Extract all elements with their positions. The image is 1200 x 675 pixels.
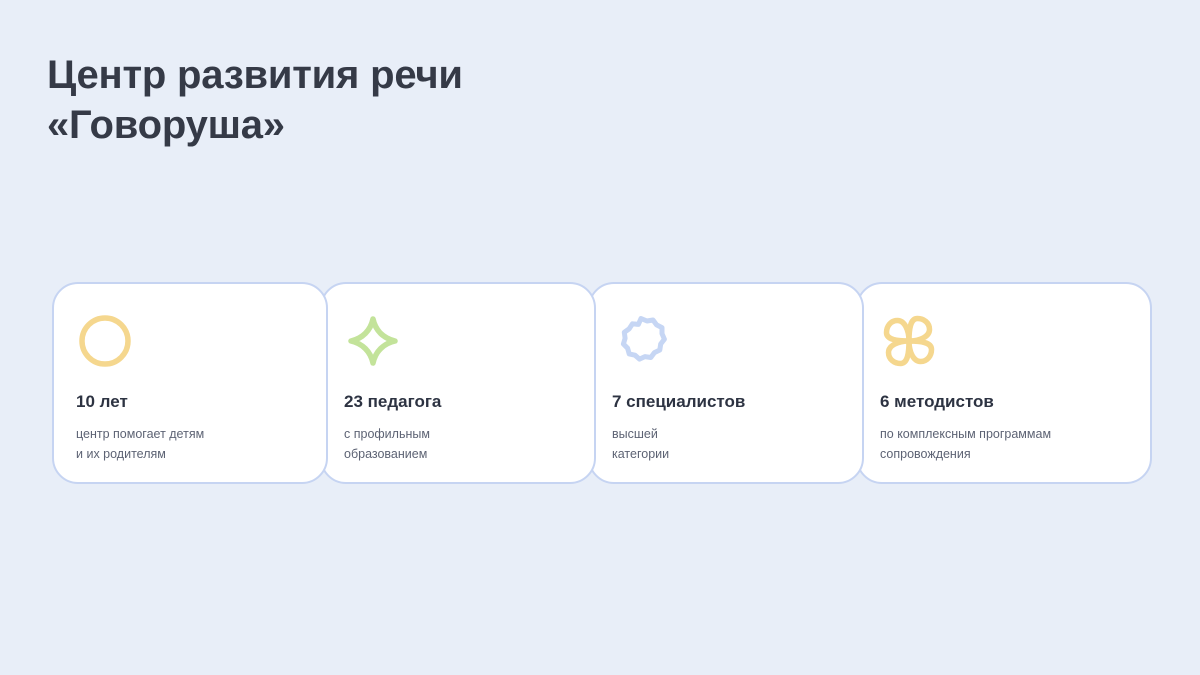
stat-card-description-line-2: и их родителям: [76, 445, 304, 465]
slide-root: Центр развития речи «Говоруша» 10 лет це…: [0, 0, 1200, 675]
stat-card-description-line-1: центр помогает детям: [76, 425, 304, 445]
stat-card-heading: 7 специалистов: [612, 392, 840, 412]
stat-card-6-metodistov[interactable]: 6 методистов по комплексным программам с…: [856, 282, 1152, 484]
stat-card-7-specialistov[interactable]: 7 специалистов высшей категории: [588, 282, 864, 484]
stat-card-description: высшей категории: [612, 425, 840, 465]
stat-card-description-line-2: сопровождения: [880, 445, 1128, 465]
stat-card-description: с профильным образованием: [344, 425, 572, 465]
stat-card-10-let[interactable]: 10 лет центр помогает детям и их родител…: [52, 282, 328, 484]
page-title-line-2: «Говоруша»: [47, 100, 747, 150]
stat-card-description-line-1: по комплексным программам: [880, 425, 1128, 445]
stat-card-strip: 10 лет центр помогает детям и их родител…: [52, 282, 1152, 484]
scalloped-circle-icon: [612, 312, 670, 370]
stat-card-description: центр помогает детям и их родителям: [76, 425, 304, 465]
page-title-line-1: Центр развития речи: [47, 50, 747, 100]
stat-card-heading: 23 педагога: [344, 392, 572, 412]
stat-card-description-line-1: высшей: [612, 425, 840, 445]
stat-card-description-line-1: с профильным: [344, 425, 572, 445]
four-point-star-icon: [344, 312, 402, 370]
stat-card-description: по комплексным программам сопровождения: [880, 425, 1128, 465]
stat-card-description-line-2: категории: [612, 445, 840, 465]
stat-card-heading: 10 лет: [76, 392, 304, 412]
page-title: Центр развития речи «Говоруша»: [47, 50, 747, 150]
stat-card-23-pedagoga[interactable]: 23 педагога с профильным образованием: [320, 282, 596, 484]
ring-icon: [76, 312, 134, 370]
stat-card-description-line-2: образованием: [344, 445, 572, 465]
stat-card-heading: 6 методистов: [880, 392, 1128, 412]
clover-icon: [880, 312, 938, 370]
